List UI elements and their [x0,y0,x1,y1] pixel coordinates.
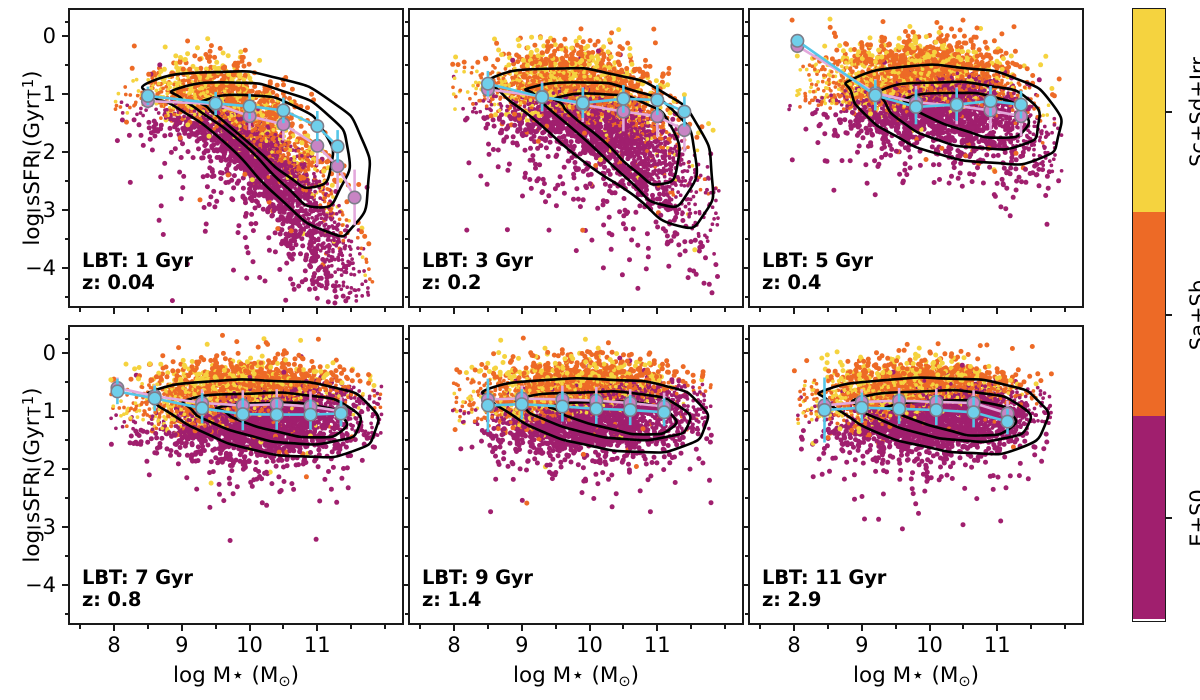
x-axis-label-mid: (M [925,663,959,688]
y-tick-minor [65,296,69,298]
y-tick-minor [65,555,69,557]
y-tick-major [62,584,68,586]
panel-lbt-9gyr: LBT: 9 Gyrz: 1.4 [408,325,744,625]
panel-lbt-3gyr: LBT: 3 Gyrz: 0.2 [408,8,744,308]
x-tick-major [656,625,658,631]
panel-annotation: LBT: 3 Gyrz: 0.2 [422,250,533,294]
x-tick-major [929,308,931,314]
x-tick-major [589,308,591,314]
x-tick-label: 8 [769,633,819,657]
x-tick-minor [487,308,489,312]
y-tick-minor [745,64,749,66]
x-tick-major [249,625,251,631]
x-tick-minor [690,308,692,312]
x-tick-minor [555,308,557,312]
y-tick-label: −3 [12,515,56,539]
x-tick-minor [1064,625,1066,629]
panel-annotation: LBT: 9 Gyrz: 1.4 [422,567,533,611]
x-tick-minor [79,625,81,629]
y-tick-major [62,526,68,528]
x-tick-minor [962,308,964,312]
colorbar-label-sa-sb: Sa+Sb [1186,280,1200,350]
y-tick-major [742,209,748,211]
x-tick-minor [622,625,624,629]
x-tick-major [793,308,795,314]
x-tick-minor [724,625,726,629]
x-axis-label-star: ⋆ [911,663,924,688]
y-tick-minor [65,338,69,340]
colorbar-label-sc-sd-irr: Sc+Sd+Irr [1186,57,1200,167]
x-tick-minor [724,308,726,312]
y-tick-label: 0 [12,24,56,48]
panel-redshift-label: z: 1.4 [422,589,533,611]
y-tick-major [402,35,408,37]
x-tick-label: 8 [429,633,479,657]
x-axis-label: log M⋆ (M⊙) [748,663,1084,690]
panel-lbt-label: LBT: 1 Gyr [82,250,193,272]
x-tick-major [996,625,998,631]
y-tick-minor [745,497,749,499]
colorbar-label-e-s0: E+S0 [1186,490,1200,548]
y-tick-major [402,352,408,354]
morphology-colorbar [1132,8,1166,622]
panel-annotation: LBT: 5 Gyrz: 0.4 [762,250,873,294]
x-axis-label-prefix: log M [513,663,571,688]
x-axis-label-subscript: ⊙ [278,673,290,690]
panel-lbt-11gyr: LBT: 11 Gyrz: 2.9 [748,325,1084,625]
y-tick-label: 0 [12,341,56,365]
panel-lbt-label: LBT: 3 Gyr [422,250,533,272]
y-tick-minor [65,64,69,66]
x-tick-major [861,308,863,314]
x-axis-label-mid: (M [585,663,619,688]
y-tick-minor [65,613,69,615]
y-axis-label-prefix: log sSFR (Gyr [20,417,45,562]
y-tick-major [402,267,408,269]
y-tick-minor [405,497,409,499]
y-tick-minor [745,238,749,240]
x-tick-label: 8 [89,633,139,657]
x-tick-major [929,625,931,631]
y-tick-minor [405,21,409,23]
x-tick-minor [147,625,149,629]
x-tick-minor [759,308,761,312]
x-tick-major [249,308,251,314]
panel-lbt-label: LBT: 7 Gyr [82,567,193,589]
panel-lbt-label: LBT: 5 Gyr [762,250,873,272]
panel-annotation: LBT: 7 Gyrz: 0.8 [82,567,193,611]
x-tick-label: 10 [225,633,275,657]
x-tick-label: 11 [632,633,682,657]
y-tick-minor [405,180,409,182]
y-tick-minor [405,381,409,383]
colorbar-tick [1166,314,1172,316]
y-axis-label-suffix: ) [20,70,45,78]
x-tick-minor [622,308,624,312]
y-tick-major [402,526,408,528]
panel-redshift-label: z: 0.8 [82,589,193,611]
panel-annotation: LBT: 1 Gyrz: 0.04 [82,250,193,294]
x-tick-label: 9 [157,633,207,657]
x-axis-label-star: ⋆ [571,663,584,688]
y-tick-minor [745,21,749,23]
y-tick-minor [65,439,69,441]
y-tick-minor [65,381,69,383]
y-tick-label: −1 [12,82,56,106]
x-tick-label: 9 [497,633,547,657]
x-axis-label-suffix: ) [971,663,979,688]
y-tick-minor [405,439,409,441]
y-tick-minor [405,238,409,240]
x-axis-label-subscript: ⊙ [958,673,970,690]
panel-redshift-label: z: 0.04 [82,272,193,294]
y-tick-minor [745,439,749,441]
x-tick-label: 11 [292,633,342,657]
x-tick-minor [419,625,421,629]
y-tick-minor [405,122,409,124]
x-tick-label: 9 [837,633,887,657]
y-tick-major [402,209,408,211]
x-tick-minor [895,625,897,629]
y-tick-minor [745,180,749,182]
x-tick-major [181,308,183,314]
y-tick-minor [405,613,409,615]
y-tick-major [402,584,408,586]
panel-lbt-label: LBT: 9 Gyr [422,567,533,589]
panel-redshift-label: z: 0.4 [762,272,873,294]
y-tick-major [742,526,748,528]
y-tick-minor [405,555,409,557]
y-tick-major [62,468,68,470]
x-tick-minor [282,625,284,629]
y-tick-major [742,151,748,153]
panel-annotation: LBT: 11 Gyrz: 2.9 [762,567,886,611]
x-tick-minor [827,308,829,312]
y-tick-minor [65,238,69,240]
y-tick-label: −4 [12,256,56,280]
x-tick-major [453,625,455,631]
x-tick-label: 10 [905,633,955,657]
y-tick-major [62,410,68,412]
y-tick-minor [65,122,69,124]
y-tick-minor [745,381,749,383]
x-tick-major [113,625,115,631]
panel-redshift-label: z: 0.2 [422,272,533,294]
x-axis-label-mid: (M [245,663,279,688]
y-tick-minor [745,555,749,557]
y-tick-major [742,35,748,37]
y-tick-minor [65,497,69,499]
x-tick-major [861,625,863,631]
y-tick-major [402,468,408,470]
x-axis-label-suffix: ) [631,663,639,688]
x-axis-label-suffix: ) [291,663,299,688]
x-tick-minor [690,625,692,629]
x-tick-minor [827,625,829,629]
x-tick-major [316,308,318,314]
y-axis-label-suffix: ) [20,387,45,395]
y-tick-major [742,410,748,412]
x-tick-major [521,625,523,631]
x-axis-label-prefix: log M [173,663,231,688]
panel-redshift-label: z: 2.9 [762,589,886,611]
y-tick-major [62,267,68,269]
colorbar-segment-e-s0 [1133,416,1165,620]
y-tick-major [62,35,68,37]
y-tick-minor [745,338,749,340]
x-tick-major [656,308,658,314]
panel-lbt-7gyr: LBT: 7 Gyrz: 0.8 [68,325,404,625]
x-axis-label: log M⋆ (M⊙) [68,663,404,690]
y-tick-label: −2 [12,457,56,481]
y-tick-major [62,93,68,95]
x-tick-major [181,625,183,631]
x-axis-label-subscript: ⊙ [618,673,630,690]
x-tick-major [521,308,523,314]
x-tick-minor [555,625,557,629]
x-tick-minor [147,308,149,312]
x-tick-major [113,308,115,314]
y-tick-major [402,410,408,412]
y-tick-minor [405,338,409,340]
x-tick-minor [215,308,217,312]
y-axis-label-prefix: log sSFR (Gyr [20,100,45,245]
x-tick-minor [350,625,352,629]
y-tick-minor [405,296,409,298]
y-tick-label: −1 [12,399,56,423]
y-tick-label: −2 [12,140,56,164]
panel-lbt-label: LBT: 11 Gyr [762,567,886,589]
y-tick-major [742,267,748,269]
y-tick-minor [65,180,69,182]
y-tick-minor [405,64,409,66]
x-tick-minor [1030,308,1032,312]
x-axis-label-star: ⋆ [231,663,244,688]
x-tick-minor [384,625,386,629]
y-tick-major [742,468,748,470]
x-tick-minor [487,625,489,629]
y-tick-major [62,209,68,211]
colorbar-segment-sc-sd-irr [1133,9,1165,213]
x-tick-minor [1064,308,1066,312]
x-tick-minor [384,308,386,312]
x-tick-minor [895,308,897,312]
x-tick-minor [282,308,284,312]
y-tick-major [742,93,748,95]
x-tick-major [793,625,795,631]
y-tick-minor [745,122,749,124]
y-tick-label: −3 [12,198,56,222]
colorbar-tick [1166,517,1172,519]
x-tick-minor [79,308,81,312]
x-tick-minor [350,308,352,312]
y-tick-major [62,151,68,153]
y-tick-major [742,352,748,354]
x-axis-label-prefix: log M [853,663,911,688]
x-tick-major [453,308,455,314]
x-tick-minor [962,625,964,629]
x-tick-minor [759,625,761,629]
panel-lbt-5gyr: LBT: 5 Gyrz: 0.4 [748,8,1084,308]
colorbar-tick [1166,111,1172,113]
x-axis-label: log M⋆ (M⊙) [408,663,744,690]
x-tick-major [589,625,591,631]
x-tick-label: 11 [972,633,1022,657]
y-tick-label: −4 [12,573,56,597]
x-tick-minor [419,308,421,312]
y-tick-major [402,93,408,95]
x-tick-minor [1030,625,1032,629]
x-tick-major [996,308,998,314]
y-tick-minor [745,613,749,615]
panel-lbt-1gyr: LBT: 1 Gyrz: 0.04 [68,8,404,308]
x-tick-minor [215,625,217,629]
y-tick-major [402,151,408,153]
scatter-points [108,333,383,543]
y-tick-minor [65,21,69,23]
y-tick-minor [745,296,749,298]
y-tick-major [62,352,68,354]
y-tick-major [742,584,748,586]
x-tick-major [316,625,318,631]
figure-root: log sSFR (Gyr−1) log sSFR (Gyr−1) EWHα>6… [0,0,1200,700]
x-tick-label: 10 [565,633,615,657]
colorbar-segment-sa-sb [1133,212,1165,416]
